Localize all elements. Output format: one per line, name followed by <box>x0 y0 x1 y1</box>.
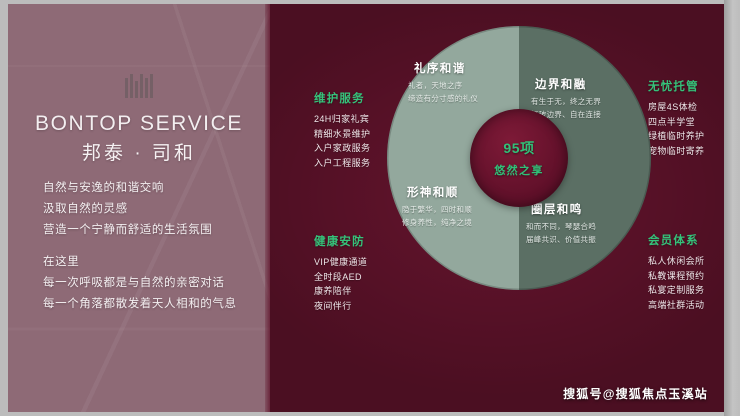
service-item: 私宴定制服务 <box>648 283 704 298</box>
service-item: 入户工程服务 <box>314 156 370 171</box>
right-diagram-panel: 维护服务 24H归家礼宾 精细水景维护 入户家政服务 入户工程服务 健康安防 V… <box>270 4 724 412</box>
watermark-label: 搜狐号@搜狐焦点玉溪站 <box>563 385 708 402</box>
hub-subtitle: 悠然之享 <box>494 162 544 178</box>
quadrant-line: 和而不同，琴瑟合鸣 <box>526 221 596 234</box>
service-item: 夜间伴行 <box>314 299 367 314</box>
service-group-health: 健康安防 VIP健康通道 全时段AED 康养陪伴 夜间伴行 <box>314 233 367 313</box>
brand-title-en: BONTOP SERVICE <box>8 112 270 136</box>
quadrant-lines-q4: 和而不同，琴瑟合鸣 届峰共识、价值共振 <box>526 221 596 246</box>
page-edge-left <box>0 0 8 416</box>
service-item: 全时段AED <box>314 270 367 285</box>
copy-spacer <box>43 241 237 252</box>
slide-screenshot: BONTOP SERVICE 邦泰 · 司和 自然与安逸的和谐交响 汲取自然的灵… <box>0 0 740 416</box>
page-edge-right <box>724 0 740 416</box>
quadrant-line: 修身养性，纯净之境 <box>402 217 472 230</box>
quadrant-line: 届峰共识、价值共振 <box>526 234 596 247</box>
service-item: 康养陪伴 <box>314 284 367 299</box>
service-item: VIP健康通道 <box>314 255 367 270</box>
pinwheel-hub: 95项 悠然之享 <box>470 109 568 207</box>
service-item: 房屋4S体检 <box>648 100 704 115</box>
quadrant-label-q3: 形神和顺 <box>407 184 459 200</box>
quadrant-line: 隐于繁华，四时和顺 <box>402 204 472 217</box>
quadrant-label-q1: 礼序和谐 <box>414 60 466 76</box>
quadrant-line: 礼者，天地之序 <box>408 80 478 93</box>
service-item: 高端社群活动 <box>648 298 704 313</box>
service-item: 入户家政服务 <box>314 141 370 156</box>
service-item: 精细水景维护 <box>314 127 370 142</box>
service-item: 绿植临时养护 <box>648 129 704 144</box>
service-group-title: 会员体系 <box>648 232 704 248</box>
pinwheel-diagram: 礼序和谐 礼者，天地之序 缔造有分寸感的礼仪 边界和融 有生于无，终之无界 打破… <box>385 24 653 292</box>
brand-copy-line: 汲取自然的灵感 <box>43 199 237 220</box>
service-item: 四点半学堂 <box>648 115 704 130</box>
service-group-title: 无忧托管 <box>648 78 704 94</box>
service-group-maintenance: 维护服务 24H归家礼宾 精细水景维护 入户家政服务 入户工程服务 <box>314 90 370 170</box>
service-group-custody: 无忧托管 房屋4S体检 四点半学堂 绿植临时养护 宠物临时寄养 <box>648 78 704 158</box>
service-item: 24H归家礼宾 <box>314 112 370 127</box>
left-intro-panel: BONTOP SERVICE 邦泰 · 司和 自然与安逸的和谐交响 汲取自然的灵… <box>8 4 270 412</box>
brand-title-cn: 邦泰 · 司和 <box>8 138 270 165</box>
quadrant-line: 缔造有分寸感的礼仪 <box>408 93 478 106</box>
service-item: 宠物临时寄养 <box>648 144 704 159</box>
brand-copy-line: 在这里 <box>43 252 237 273</box>
brand-copy-line: 营造一个宁静而舒适的生活氛围 <box>43 220 237 241</box>
service-group-membership: 会员体系 私人休闲会所 私教课程预约 私宴定制服务 高端社群活动 <box>648 232 704 312</box>
quadrant-lines-q3: 隐于繁华，四时和顺 修身养性，纯净之境 <box>402 204 472 229</box>
brand-copy-line: 自然与安逸的和谐交响 <box>43 178 237 199</box>
page-edge-top <box>0 0 740 4</box>
brand-copy-block: 自然与安逸的和谐交响 汲取自然的灵感 营造一个宁静而舒适的生活氛围 在这里 每一… <box>43 178 237 315</box>
bontop-bars-logo-icon <box>125 74 153 98</box>
service-group-title: 维护服务 <box>314 90 370 106</box>
service-item: 私教课程预约 <box>648 269 704 284</box>
quadrant-lines-q1: 礼者，天地之序 缔造有分寸感的礼仪 <box>408 80 478 105</box>
page-edge-bottom <box>0 412 740 416</box>
quadrant-line: 有生于无，终之无界 <box>531 96 601 109</box>
service-item: 私人休闲会所 <box>648 254 704 269</box>
brand-copy-line: 每一次呼吸都是与自然的亲密对话 <box>43 273 237 294</box>
brand-copy-line: 每一个角落都散发着天人相和的气息 <box>43 294 237 315</box>
service-group-title: 健康安防 <box>314 233 367 249</box>
quadrant-label-q2: 边界和融 <box>535 76 587 92</box>
quadrant-label-q4: 圈层和鸣 <box>531 201 583 217</box>
hub-count: 95项 <box>503 138 534 158</box>
presentation-slide: BONTOP SERVICE 邦泰 · 司和 自然与安逸的和谐交响 汲取自然的灵… <box>8 4 724 412</box>
